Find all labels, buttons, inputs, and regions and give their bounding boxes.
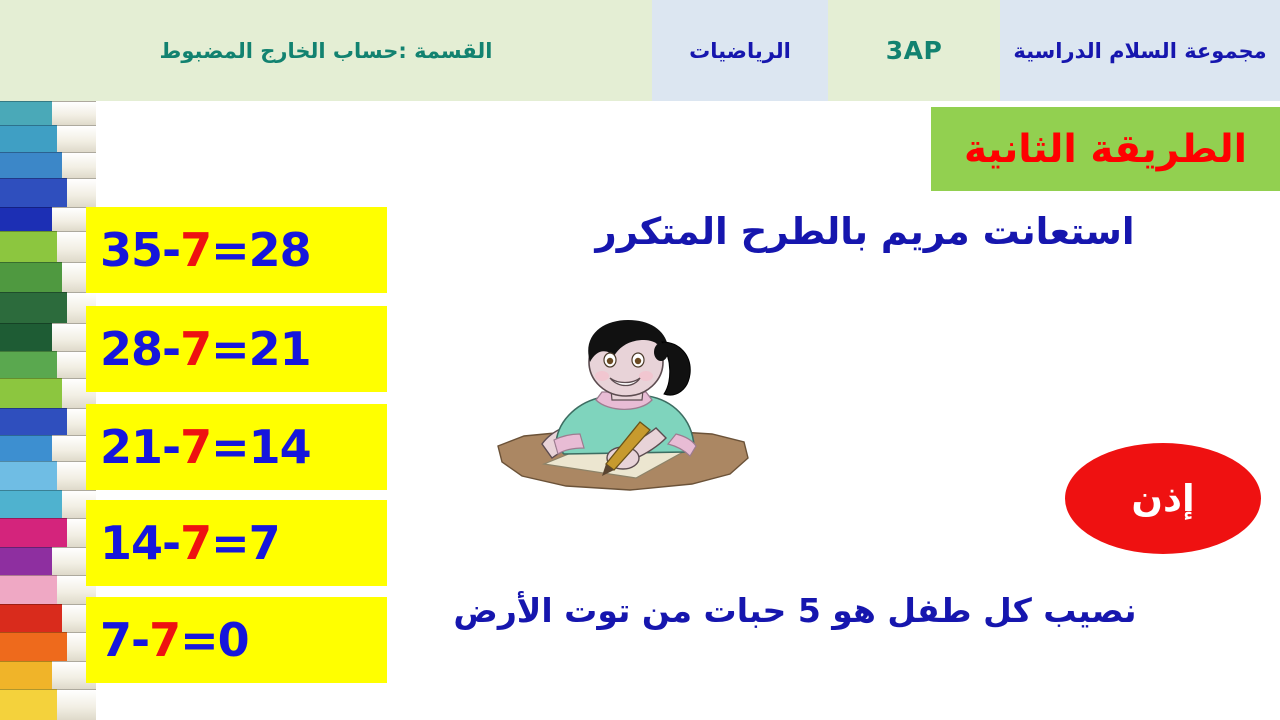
- slide-header: القسمة :حساب الخارج المضبوط الرياضيات 3A…: [0, 0, 1280, 101]
- book-item: [0, 689, 96, 720]
- book-spine: [0, 231, 57, 264]
- equation-minus-operator: -: [162, 223, 180, 277]
- book-item: [0, 518, 96, 547]
- equation-minuend: 28: [100, 322, 162, 376]
- book-item: [0, 178, 96, 207]
- equation-subtrahend: 7: [180, 516, 211, 570]
- book-pages: [67, 178, 96, 209]
- book-spine: [0, 152, 62, 180]
- equation-minus-operator: -: [162, 322, 180, 376]
- book-item: [0, 125, 96, 151]
- equation-text: 14-7=7: [100, 516, 280, 570]
- right-pupil: [635, 358, 641, 364]
- hair-tie: [654, 343, 668, 361]
- book-spine: [0, 101, 52, 127]
- equation-box-4: 14-7=7: [86, 500, 387, 586]
- book-spine: [0, 378, 62, 411]
- book-item: [0, 661, 96, 690]
- equation-minuend: 14: [100, 516, 162, 570]
- book-spine: [0, 435, 52, 463]
- equation-minuend: 35: [100, 223, 162, 277]
- book-spine: [0, 323, 52, 354]
- book-item: [0, 351, 96, 377]
- equation-result: 28: [249, 223, 311, 277]
- book-spine: [0, 207, 52, 233]
- conclusion-badge: إذن: [1065, 443, 1261, 554]
- book-spine: [0, 547, 52, 578]
- header-cell-lesson: القسمة :حساب الخارج المضبوط: [0, 0, 652, 101]
- left-cheek: [595, 371, 609, 381]
- subject-label: الرياضيات: [689, 39, 791, 63]
- book-item: [0, 292, 96, 323]
- book-spine: [0, 518, 67, 549]
- equation-box-1: 35-7=28: [86, 207, 387, 293]
- right-cheek: [639, 371, 653, 381]
- book-item: [0, 101, 96, 125]
- header-cell-level: 3AP: [828, 0, 1000, 101]
- equation-text: 35-7=28: [100, 223, 311, 277]
- equation-subtrahend: 7: [149, 613, 180, 667]
- header-cell-school: مجموعة السلام الدراسية: [1000, 0, 1280, 101]
- header-cell-subject: الرياضيات: [652, 0, 828, 101]
- book-item: [0, 547, 96, 576]
- book-spine: [0, 661, 52, 692]
- equation-result: 21: [249, 322, 311, 376]
- book-spine: [0, 351, 57, 379]
- book-item: [0, 378, 96, 409]
- school-name: مجموعة السلام الدراسية: [1013, 39, 1266, 63]
- book-item: [0, 231, 96, 262]
- equation-result: 7: [249, 516, 280, 570]
- book-item: [0, 461, 96, 490]
- equation-equals-operator: =: [211, 420, 249, 474]
- book-item: [0, 262, 96, 293]
- book-item: [0, 152, 96, 178]
- equation-text: 28-7=21: [100, 322, 311, 376]
- book-spine: [0, 125, 57, 153]
- equation-box-2: 28-7=21: [86, 306, 387, 392]
- book-spine: [0, 490, 62, 521]
- book-spine: [0, 292, 67, 325]
- book-pages: [57, 689, 96, 720]
- intro-sentence: استعانت مريم بالطرح المتكرر: [480, 212, 1250, 253]
- book-item: [0, 435, 96, 461]
- equation-text: 7-7=0: [100, 613, 249, 667]
- equation-minus-operator: -: [131, 613, 149, 667]
- book-spine: [0, 604, 62, 635]
- equation-minus-operator: -: [162, 420, 180, 474]
- book-pages: [52, 101, 96, 127]
- result-sentence: نصيب كل طفل هو 5 حبات من توت الأرض: [330, 592, 1260, 630]
- book-spine: [0, 262, 62, 295]
- book-item: [0, 490, 96, 519]
- book-spine: [0, 178, 67, 209]
- equation-equals-operator: =: [211, 223, 249, 277]
- level-label: 3AP: [886, 36, 943, 65]
- book-pages: [62, 152, 96, 180]
- equation-minuend: 21: [100, 420, 162, 474]
- equation-subtrahend: 7: [180, 420, 211, 474]
- book-spine: [0, 461, 57, 492]
- equation-equals-operator: =: [211, 322, 249, 376]
- book-spine: [0, 408, 67, 436]
- book-item: [0, 575, 96, 604]
- equation-result: 0: [218, 613, 249, 667]
- book-spine: [0, 689, 57, 720]
- book-pages: [57, 125, 96, 153]
- stack-of-books-image: [0, 101, 96, 720]
- book-item: [0, 408, 96, 434]
- method-title-label: الطريقة الثانية: [964, 130, 1247, 169]
- equation-text: 21-7=14: [100, 420, 311, 474]
- book-item: [0, 632, 96, 661]
- book-spine: [0, 632, 67, 663]
- book-spine: [0, 575, 57, 606]
- book-item: [0, 207, 96, 231]
- girl-writing-illustration: [480, 318, 760, 500]
- equation-equals-operator: =: [180, 613, 218, 667]
- book-item: [0, 604, 96, 633]
- equation-result: 14: [249, 420, 311, 474]
- method-title-banner: الطريقة الثانية: [931, 107, 1280, 191]
- equation-minus-operator: -: [162, 516, 180, 570]
- left-pupil: [607, 358, 613, 364]
- equation-equals-operator: =: [211, 516, 249, 570]
- equation-subtrahend: 7: [180, 322, 211, 376]
- lesson-title: القسمة :حساب الخارج المضبوط: [160, 39, 493, 63]
- equation-subtrahend: 7: [180, 223, 211, 277]
- conclusion-badge-label: إذن: [1131, 477, 1194, 520]
- slide-canvas: القسمة :حساب الخارج المضبوط الرياضيات 3A…: [0, 0, 1280, 720]
- equation-minuend: 7: [100, 613, 131, 667]
- book-item: [0, 323, 96, 352]
- equation-box-3: 21-7=14: [86, 404, 387, 490]
